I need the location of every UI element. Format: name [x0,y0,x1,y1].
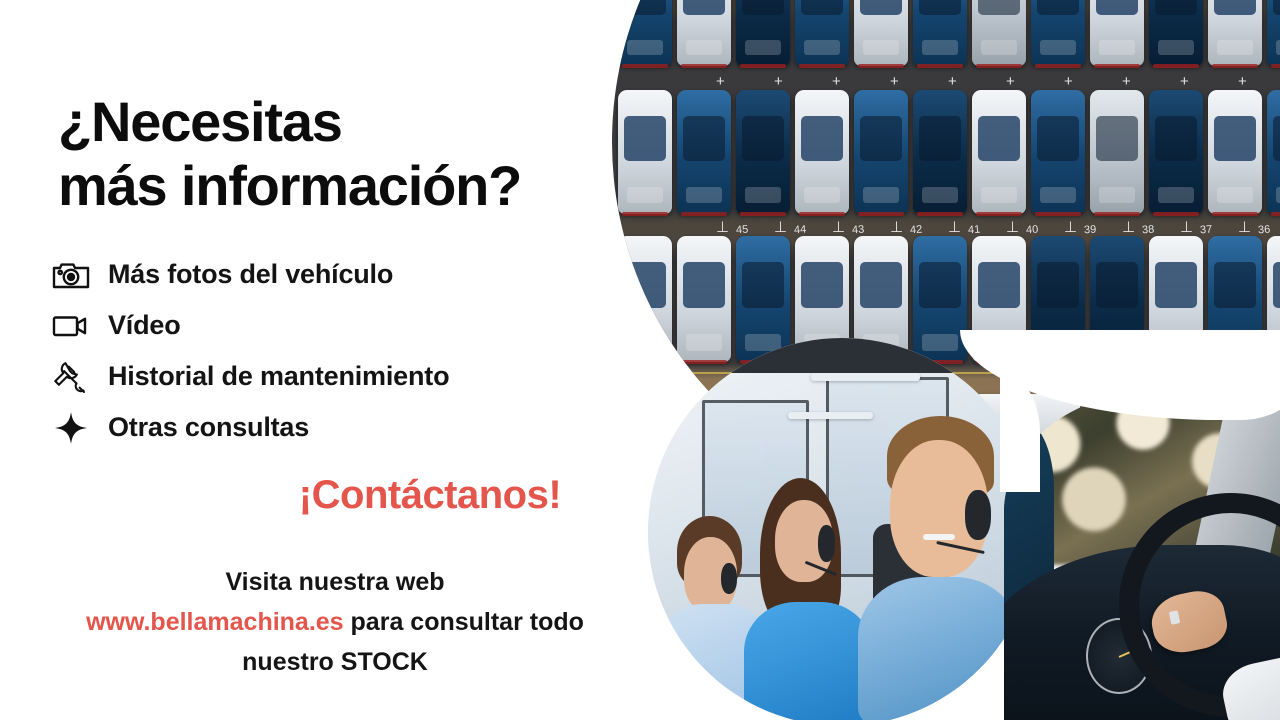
list-item: Otras consultas [48,402,608,453]
web-line-3: nuestro STOCK [10,642,660,682]
wrench-tools-icon [48,357,94,397]
website-url[interactable]: www.bellamachina.es [86,608,344,636]
content-text: ¿Necesitas más información? Más fotos de… [0,0,1280,720]
feature-label: Otras consultas [108,412,309,443]
headline-line-2: más información? [58,154,521,217]
feature-label: Historial de mantenimiento [108,361,449,392]
list-item: Vídeo [48,300,608,351]
promo-banner: + + + + + + + + + + [0,0,1280,720]
page-title: ¿Necesitas más información? [58,90,678,220]
list-item: Más fotos del vehículo [48,249,608,300]
contact-cta-text: ¡Contáctanos! [190,473,670,518]
sparkle-star-icon [48,408,94,448]
website-info: Visita nuestra web www.bellamachina.es p… [10,562,660,682]
web-line-1: Visita nuestra web [10,562,660,602]
video-camera-icon [48,306,94,346]
web-line-2: www.bellamachina.es para consultar todo [10,602,660,642]
list-item: Historial de mantenimiento [48,351,608,402]
web-line-2-rest: para consultar todo [344,608,584,636]
headline-line-1: ¿Necesitas [58,90,342,153]
feature-label: Más fotos del vehículo [108,259,393,290]
camera-icon [48,255,94,295]
feature-label: Vídeo [108,310,181,341]
feature-list: Más fotos del vehículo Vídeo [48,249,608,453]
